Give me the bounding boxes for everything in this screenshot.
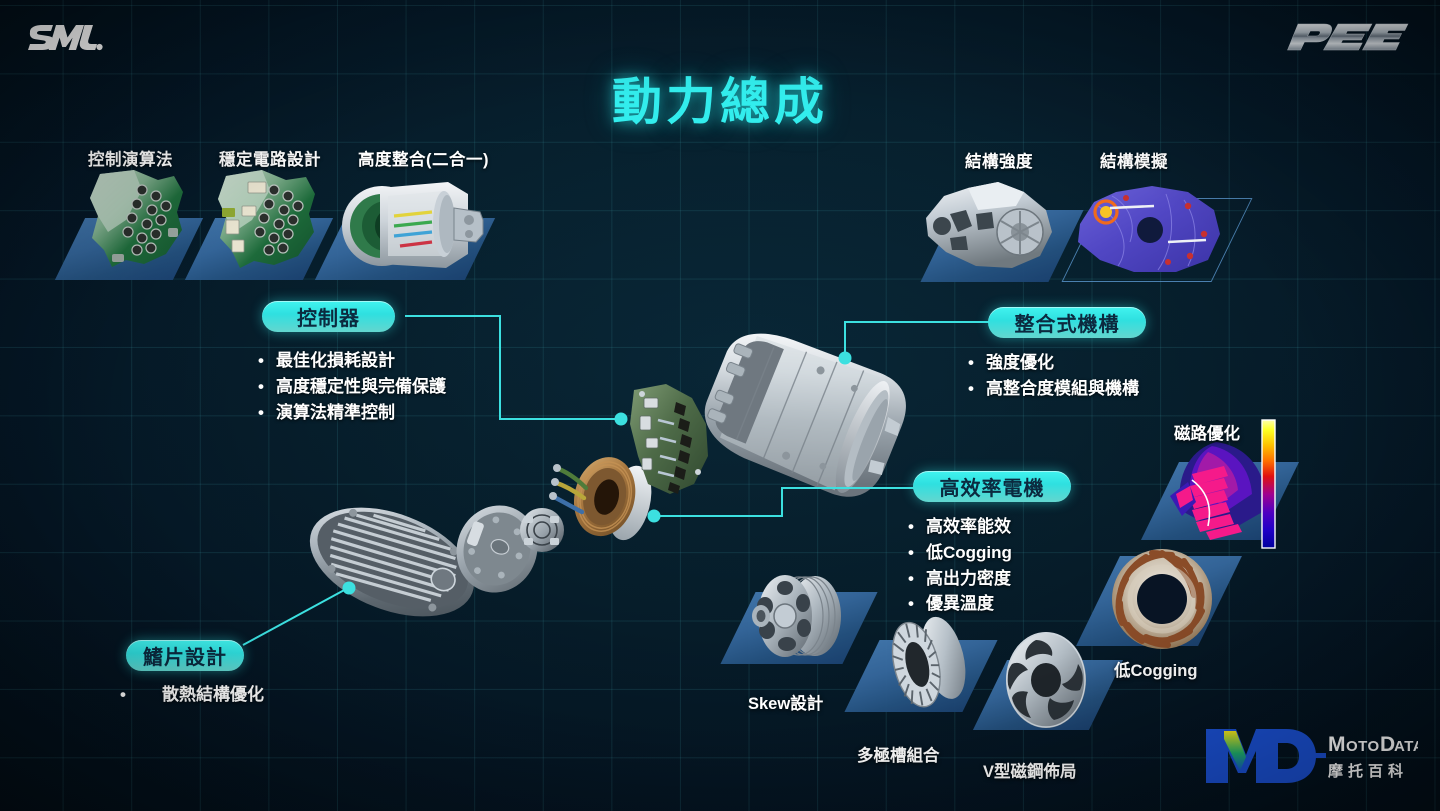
magnetic-flux-fea-icon: [1162, 438, 1274, 548]
caption-magnetic-optimization: 磁路優化: [1174, 420, 1240, 444]
integrated-motor-unit-icon: [336, 176, 488, 272]
callout-pill-high-efficiency-motor[interactable]: 高效率電機: [913, 471, 1071, 502]
bullet-dot: •: [258, 400, 276, 426]
callout-bullets-high-efficiency-motor: •高效率能效 •低Cogging •高出力密度 •優異溫度: [908, 514, 1012, 617]
multi-pole-slot-stator-icon: [874, 612, 980, 712]
toplabel-high-integration: 高度整合(二合一): [358, 146, 489, 170]
bullet-dot: •: [908, 591, 926, 617]
pe3-logo: [1282, 16, 1412, 58]
bullet-item: •高整合度模組與機構: [968, 376, 1139, 402]
callout-pill-fin-design[interactable]: 鰭片設計: [126, 640, 244, 671]
pcb-board-icon: [82, 168, 202, 272]
svg-text:D: D: [1380, 733, 1395, 756]
bullet-dot: •: [908, 540, 926, 566]
bullet-item: •高度穩定性與完備保護: [258, 374, 446, 400]
bullet-dot: •: [908, 514, 926, 540]
bullet-item: •演算法精準控制: [258, 400, 446, 426]
callout-bullets-integrated-mechanism: •強度優化 •高整合度模組與機構: [968, 350, 1139, 402]
bullet-dot: •: [968, 376, 986, 402]
caption-multi-pole-slot: 多極槽組合: [857, 742, 940, 766]
svg-text:OTO: OTO: [1346, 738, 1380, 755]
bullet-item: •強度優化: [968, 350, 1139, 376]
toplabel-control-algorithm: 控制演算法: [88, 146, 173, 170]
bullet-item: •最佳化損耗設計: [258, 348, 446, 374]
skew-rotor-icon: [745, 568, 855, 663]
pcb-board-components-icon: [212, 168, 334, 272]
svg-text:摩托百科: 摩托百科: [1328, 762, 1408, 780]
toplabel-structure-simulation: 結構模擬: [1100, 148, 1168, 172]
fea-colorbar: [1260, 418, 1278, 550]
fea-structure-simulation-icon: [1072, 176, 1228, 280]
bullet-item: •高出力密度: [908, 566, 1012, 592]
svg-text:M: M: [1328, 733, 1346, 756]
bullet-item: •高效率能效: [908, 514, 1012, 540]
svg-text:ATA: ATA: [1394, 738, 1418, 755]
motodata-logo: M OTO D ATA 摩托百科: [1200, 721, 1418, 793]
caption-low-cogging: 低Cogging: [1114, 657, 1197, 681]
toplabel-structure-strength: 結構強度: [965, 148, 1033, 172]
v-shape-magnet-rotor-icon: [998, 628, 1094, 732]
housing-casting-icon: [920, 170, 1062, 280]
bullet-dot: •: [258, 374, 276, 400]
callout-bullets-controller: •最佳化損耗設計 •高度穩定性與完備保護 •演算法精準控制: [258, 348, 446, 425]
callout-bullets-fin-design: •散熱結構優化: [120, 682, 264, 708]
caption-v-magnet: V型磁鋼佈局: [983, 758, 1077, 782]
sym-logo: [26, 22, 104, 56]
toplabel-circuit-design: 穩定電路設計: [219, 146, 321, 170]
bullet-dot: •: [258, 348, 276, 374]
bullet-item: •優異溫度: [908, 591, 1012, 617]
bullet-dot: •: [968, 350, 986, 376]
bullet-dot: •: [120, 682, 138, 708]
bullet-item: •散熱結構優化: [120, 682, 264, 708]
bullet-item: •低Cogging: [908, 540, 1012, 566]
motor-housing-icon: [690, 336, 910, 496]
callout-pill-integrated-mechanism[interactable]: 整合式機構: [988, 307, 1146, 338]
page-title: 動力總成: [0, 62, 1440, 134]
bullet-dot: •: [908, 566, 926, 592]
caption-skew-design: Skew設計: [748, 690, 823, 714]
callout-pill-controller[interactable]: 控制器: [262, 301, 395, 332]
copper-winding-stator-icon: [1108, 545, 1216, 653]
